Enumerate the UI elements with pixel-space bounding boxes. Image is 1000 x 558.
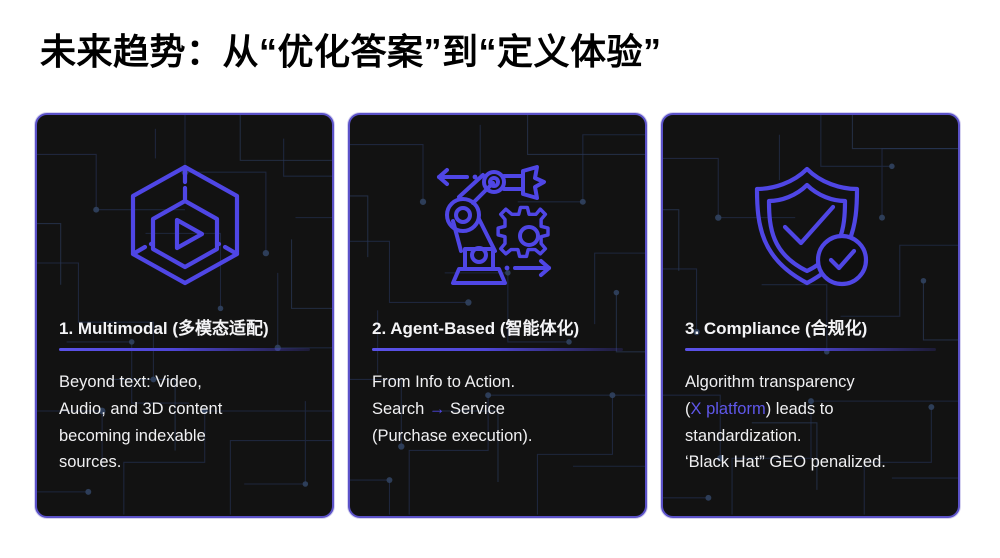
highlight-x-platform: X platform xyxy=(691,400,766,418)
card-heading: 3. Compliance (合规化) xyxy=(685,318,936,339)
trend-card-multimodal[interactable]: 1. Multimodal (多模态适配) Beyond text: Video… xyxy=(35,113,334,518)
trend-card-agent-based[interactable]: 2. Agent-Based (智能体化) From Info to Actio… xyxy=(348,113,647,518)
body-line-1: From Info to Action. xyxy=(372,369,623,396)
slide-root: 未来趋势：从“优化答案”到“定义体验” xyxy=(0,0,1000,558)
body-line-2: Search → Service xyxy=(372,396,623,423)
arrow-left-icon xyxy=(439,170,477,184)
card-body-text: Beyond text: Video, Audio, and 3D conten… xyxy=(59,369,310,476)
card-icon-area xyxy=(685,139,936,314)
robot-arm-gear-icon xyxy=(431,163,565,291)
heading-divider xyxy=(59,348,310,351)
page-title: 未来趋势：从“优化答案”到“定义体验” xyxy=(40,26,662,78)
body-line-4: sources. xyxy=(59,449,310,476)
body-line-2: Audio, and 3D content xyxy=(59,396,310,423)
trend-card-compliance[interactable]: 3. Compliance (合规化) Algorithm transparen… xyxy=(661,113,960,518)
body-line-2: (X platform) leads to xyxy=(685,396,936,423)
body-line-3: (Purchase execution). xyxy=(372,423,623,450)
heading-divider xyxy=(372,348,623,351)
card-heading: 2. Agent-Based (智能体化) xyxy=(372,318,623,339)
body-line-2-post: Service xyxy=(445,400,505,418)
cards-container: 1. Multimodal (多模态适配) Beyond text: Video… xyxy=(35,113,961,518)
shield-check-icon xyxy=(749,163,873,291)
arrow-right-glyph: → xyxy=(429,400,446,418)
card-heading: 1. Multimodal (多模态适配) xyxy=(59,318,310,339)
card-icon-area xyxy=(372,139,623,314)
card-icon-area xyxy=(59,139,310,314)
body-line-1: Algorithm transparency xyxy=(685,369,936,396)
arrow-right-icon xyxy=(504,261,548,275)
body-line-1: Beyond text: Video, xyxy=(59,369,310,396)
body-line-2-post: ) leads to xyxy=(766,400,834,418)
card-body-text: From Info to Action. Search → Service (P… xyxy=(372,369,623,449)
heading-divider xyxy=(685,348,936,351)
body-line-3: becoming indexable xyxy=(59,423,310,450)
body-line-3: standardization. xyxy=(685,423,936,450)
check-badge-icon xyxy=(818,236,866,284)
play-triangle-icon xyxy=(177,220,202,248)
3d-cube-play-icon xyxy=(124,162,246,292)
body-line-2-pre: Search xyxy=(372,400,429,418)
body-line-4: ‘Black Hat” GEO penalized. xyxy=(685,449,936,476)
card-body-text: Algorithm transparency (X platform) lead… xyxy=(685,369,936,476)
